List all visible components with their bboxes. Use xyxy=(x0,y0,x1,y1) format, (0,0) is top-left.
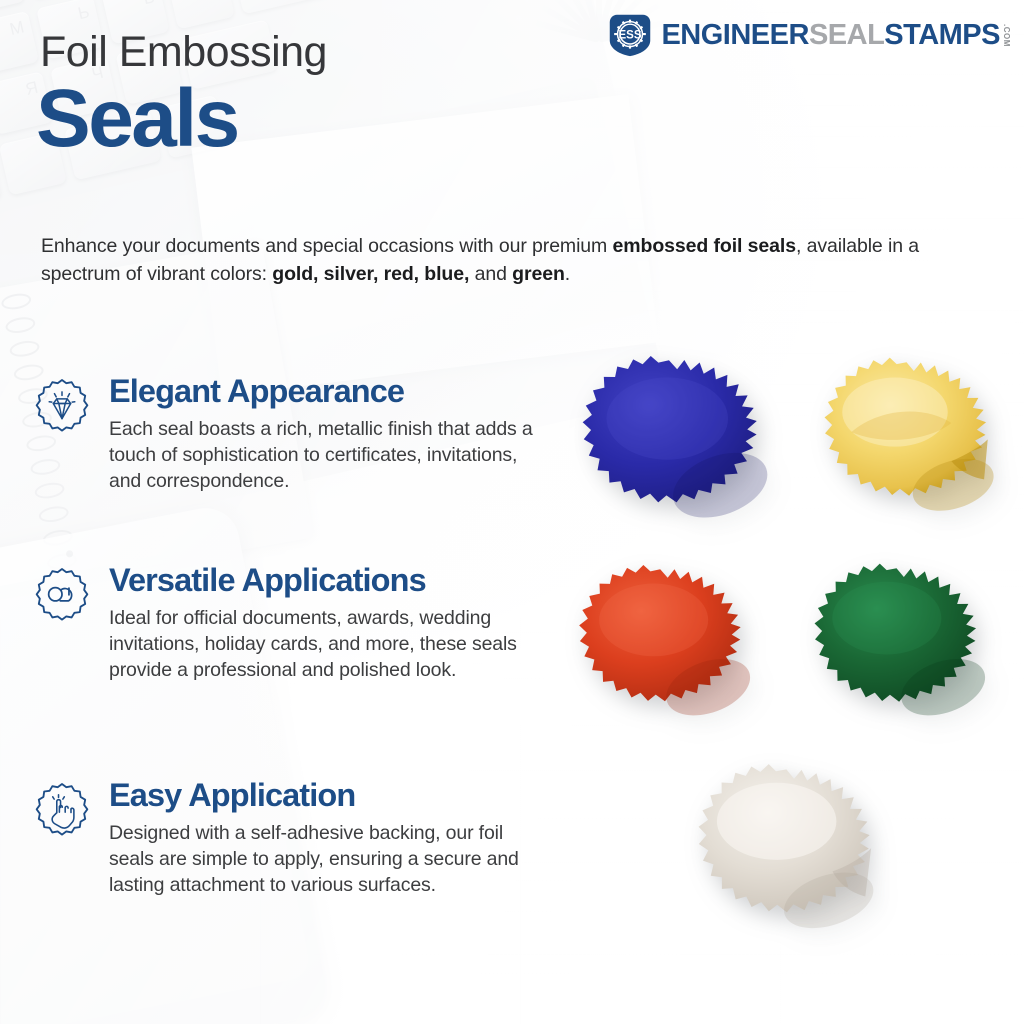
logo-tld-text: .COM xyxy=(1002,24,1010,47)
feature-text: Ideal for official documents, awards, we… xyxy=(109,606,553,684)
intro-bold-1: embossed foil seals xyxy=(613,235,796,257)
feature-body: Elegant Appearance Each seal boasts a ri… xyxy=(109,374,553,495)
seal-swatch-gold xyxy=(815,348,1015,538)
ess-gear-badge-icon: ESS xyxy=(607,12,653,58)
foil-embossing-seals-infographic: К Л Д Ж Н Р М Ь Б В И Я Ч xyxy=(0,0,1024,1024)
logo-engineer-text: ENGINEER xyxy=(661,21,808,50)
feature-title: Elegant Appearance xyxy=(109,374,553,408)
intro-bold-2: gold, silver, red, blue, xyxy=(272,263,469,285)
feature-text: Each seal boasts a rich, metallic finish… xyxy=(109,417,553,495)
intro-seg-1: Enhance your documents and special occas… xyxy=(41,235,613,257)
page-title-top: Foil Embossing xyxy=(40,28,327,77)
feature-block-easy-application: Easy Application Designed with a self-ad… xyxy=(33,778,553,899)
brand-wordmark: ENGINEER SEAL STAMPS .COM xyxy=(661,21,1010,50)
intro-seg-4: . xyxy=(565,263,570,285)
feature-block-versatile-applications: Versatile Applications Ideal for officia… xyxy=(33,563,553,684)
page-title-main: Seals xyxy=(36,78,238,160)
seal-swatch-silver xyxy=(688,758,900,954)
gold-foil-seal-icon xyxy=(815,348,1015,538)
seal-swatch-blue xyxy=(572,348,790,544)
logo-stamps-text: STAMPS xyxy=(884,21,1000,50)
intro-seg-3: and xyxy=(469,263,512,285)
diamond-icon xyxy=(33,378,91,436)
seal-swatch-green xyxy=(805,554,1005,744)
intro-paragraph: Enhance your documents and special occas… xyxy=(41,232,941,290)
feature-body: Versatile Applications Ideal for officia… xyxy=(109,563,553,684)
seal-swatch-red xyxy=(570,554,770,744)
feature-block-elegant-appearance: Elegant Appearance Each seal boasts a ri… xyxy=(33,374,553,495)
brand-logo[interactable]: ESS ENGINEER SEAL STAMPS .COM xyxy=(607,12,1010,58)
green-foil-seal-icon xyxy=(805,554,1005,744)
feature-text: Designed with a self-adhesive backing, o… xyxy=(109,821,553,899)
feature-title: Easy Application xyxy=(109,778,553,812)
blue-foil-seal-icon xyxy=(572,348,790,544)
feature-body: Easy Application Designed with a self-ad… xyxy=(109,778,553,899)
infinity-icon xyxy=(33,567,91,625)
intro-bold-3: green xyxy=(512,263,565,285)
silver-foil-seal-icon xyxy=(688,758,900,954)
feature-title: Versatile Applications xyxy=(109,563,553,597)
content-layer: ESS ENGINEER SEAL STAMPS .COM Foil Embos… xyxy=(0,0,1024,1024)
red-foil-seal-icon xyxy=(570,554,770,744)
svg-text:ESS: ESS xyxy=(619,29,642,41)
pointing-hand-icon xyxy=(33,782,91,840)
logo-seal-text: SEAL xyxy=(809,21,884,50)
